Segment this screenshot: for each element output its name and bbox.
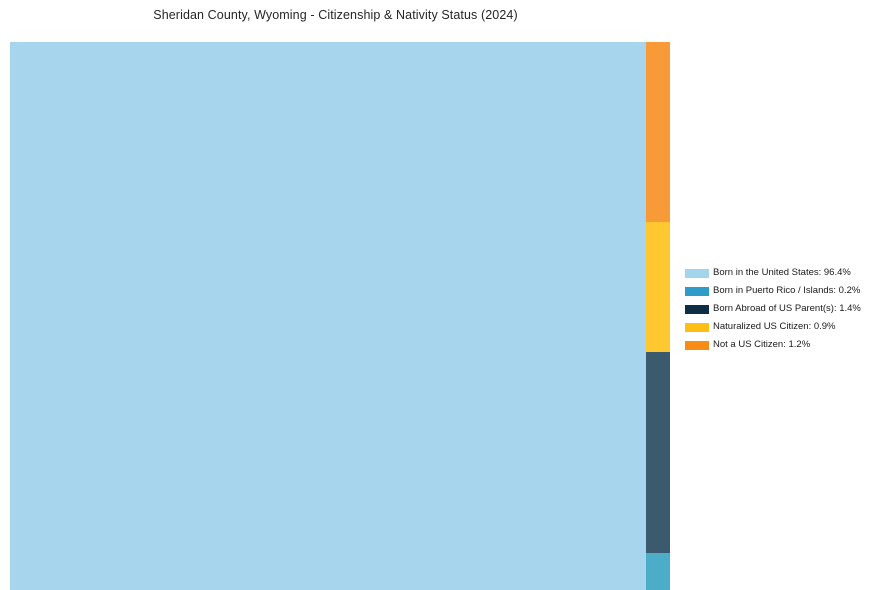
color-swatch-icon xyxy=(685,287,709,296)
legend-item-label: Born Abroad of US Parent(s): 1.4% xyxy=(713,304,861,314)
legend-item-label: Born in the United States: 96.4% xyxy=(713,268,851,278)
legend-item[interactable]: Not a US Citizen: 1.2% xyxy=(685,336,885,354)
legend-item-label: Not a US Citizen: 1.2% xyxy=(713,340,810,350)
page-title: Sheridan County, Wyoming - Citizenship &… xyxy=(0,8,671,22)
treemap-tile[interactable] xyxy=(646,553,670,590)
legend-item[interactable]: Born Abroad of US Parent(s): 1.4% xyxy=(685,300,885,318)
color-swatch-icon xyxy=(685,323,709,332)
legend-item[interactable]: Born in the United States: 96.4% xyxy=(685,264,885,282)
treemap-tile[interactable] xyxy=(646,352,670,553)
chart-legend: Born in the United States: 96.4%Born in … xyxy=(685,264,885,354)
legend-item[interactable]: Born in Puerto Rico / Islands: 0.2% xyxy=(685,282,885,300)
color-swatch-icon xyxy=(685,341,709,350)
legend-item[interactable]: Naturalized US Citizen: 0.9% xyxy=(685,318,885,336)
treemap-tile[interactable] xyxy=(10,42,646,590)
treemap-tile[interactable] xyxy=(646,42,670,222)
color-swatch-icon xyxy=(685,269,709,278)
treemap-tile[interactable] xyxy=(646,222,670,352)
color-swatch-icon xyxy=(685,305,709,314)
legend-item-label: Naturalized US Citizen: 0.9% xyxy=(713,322,836,332)
treemap-plot-area xyxy=(10,42,670,590)
legend-item-label: Born in Puerto Rico / Islands: 0.2% xyxy=(713,286,860,296)
